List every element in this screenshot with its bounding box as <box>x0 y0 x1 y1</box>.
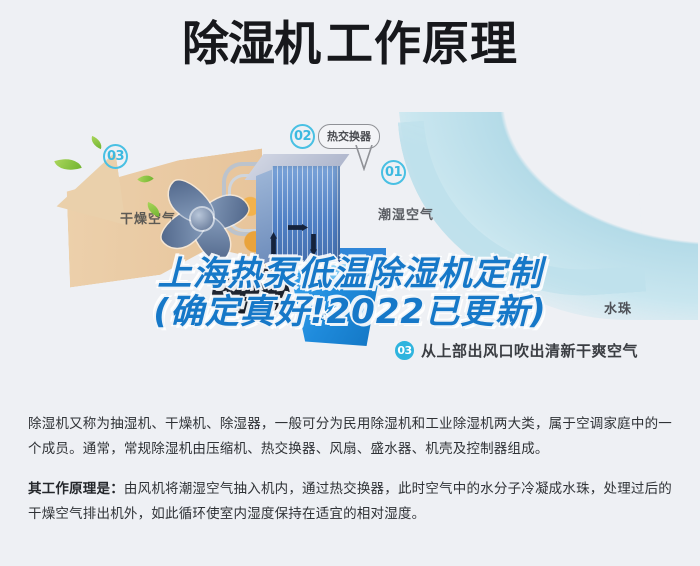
caption-text: 从上部出风口吹出清新干爽空气 <box>421 340 638 361</box>
paragraph-2-rest: 由风机将潮湿空气抽入机内，通过热交换器，此时空气中的水分子冷凝成水珠，处理过后的… <box>28 481 672 522</box>
fan <box>155 164 259 262</box>
humid-air-sweep-arc <box>398 112 646 308</box>
paragraph-1: 除湿机又称为抽湿机、干燥机、除湿器，一般可分为民用除湿机和工业除湿机两大类，属于… <box>28 412 672 462</box>
page-header: 除湿机工作原理 <box>0 18 700 72</box>
humid-air-label: 潮湿空气 <box>378 204 434 223</box>
water-drops-label: 水珠 <box>604 298 632 317</box>
page-title: 除湿机工作原理 <box>182 18 518 72</box>
paragraph-2: 其工作原理是：由风机将潮湿空气抽入机内，通过热交换器，此时空气中的水分子冷凝成水… <box>28 477 672 527</box>
heat-exchanger-fins <box>272 166 340 262</box>
fan-hub <box>191 208 213 230</box>
article-body: 除湿机又称为抽湿机、干燥机、除湿器，一般可分为民用除湿机和工业除湿机两大类，属于… <box>0 412 700 527</box>
page-title-part-2: 工作原理 <box>326 17 518 72</box>
step-badge-03: 03 <box>103 144 128 169</box>
page-root: 除湿机工作原理 干燥空气 03 02 01 热交换器 潮湿空气 <box>0 0 700 566</box>
leaf-icon <box>89 136 104 149</box>
step-badge-02: 02 <box>290 124 315 149</box>
leaf-icon <box>54 154 81 176</box>
dehumidifier-diagram: 干燥空气 03 02 01 热交换器 潮湿空气 <box>0 112 700 404</box>
step-badge-01: 01 <box>381 160 406 185</box>
paragraph-2-lead: 其工作原理是： <box>28 481 124 497</box>
page-title-part-1: 除湿机 <box>182 17 320 72</box>
diagram-caption: 03 从上部出风口吹出清新干爽空气 <box>395 340 638 361</box>
caption-badge-03: 03 <box>395 341 414 360</box>
water-tank-label: 水箱 <box>318 304 344 321</box>
